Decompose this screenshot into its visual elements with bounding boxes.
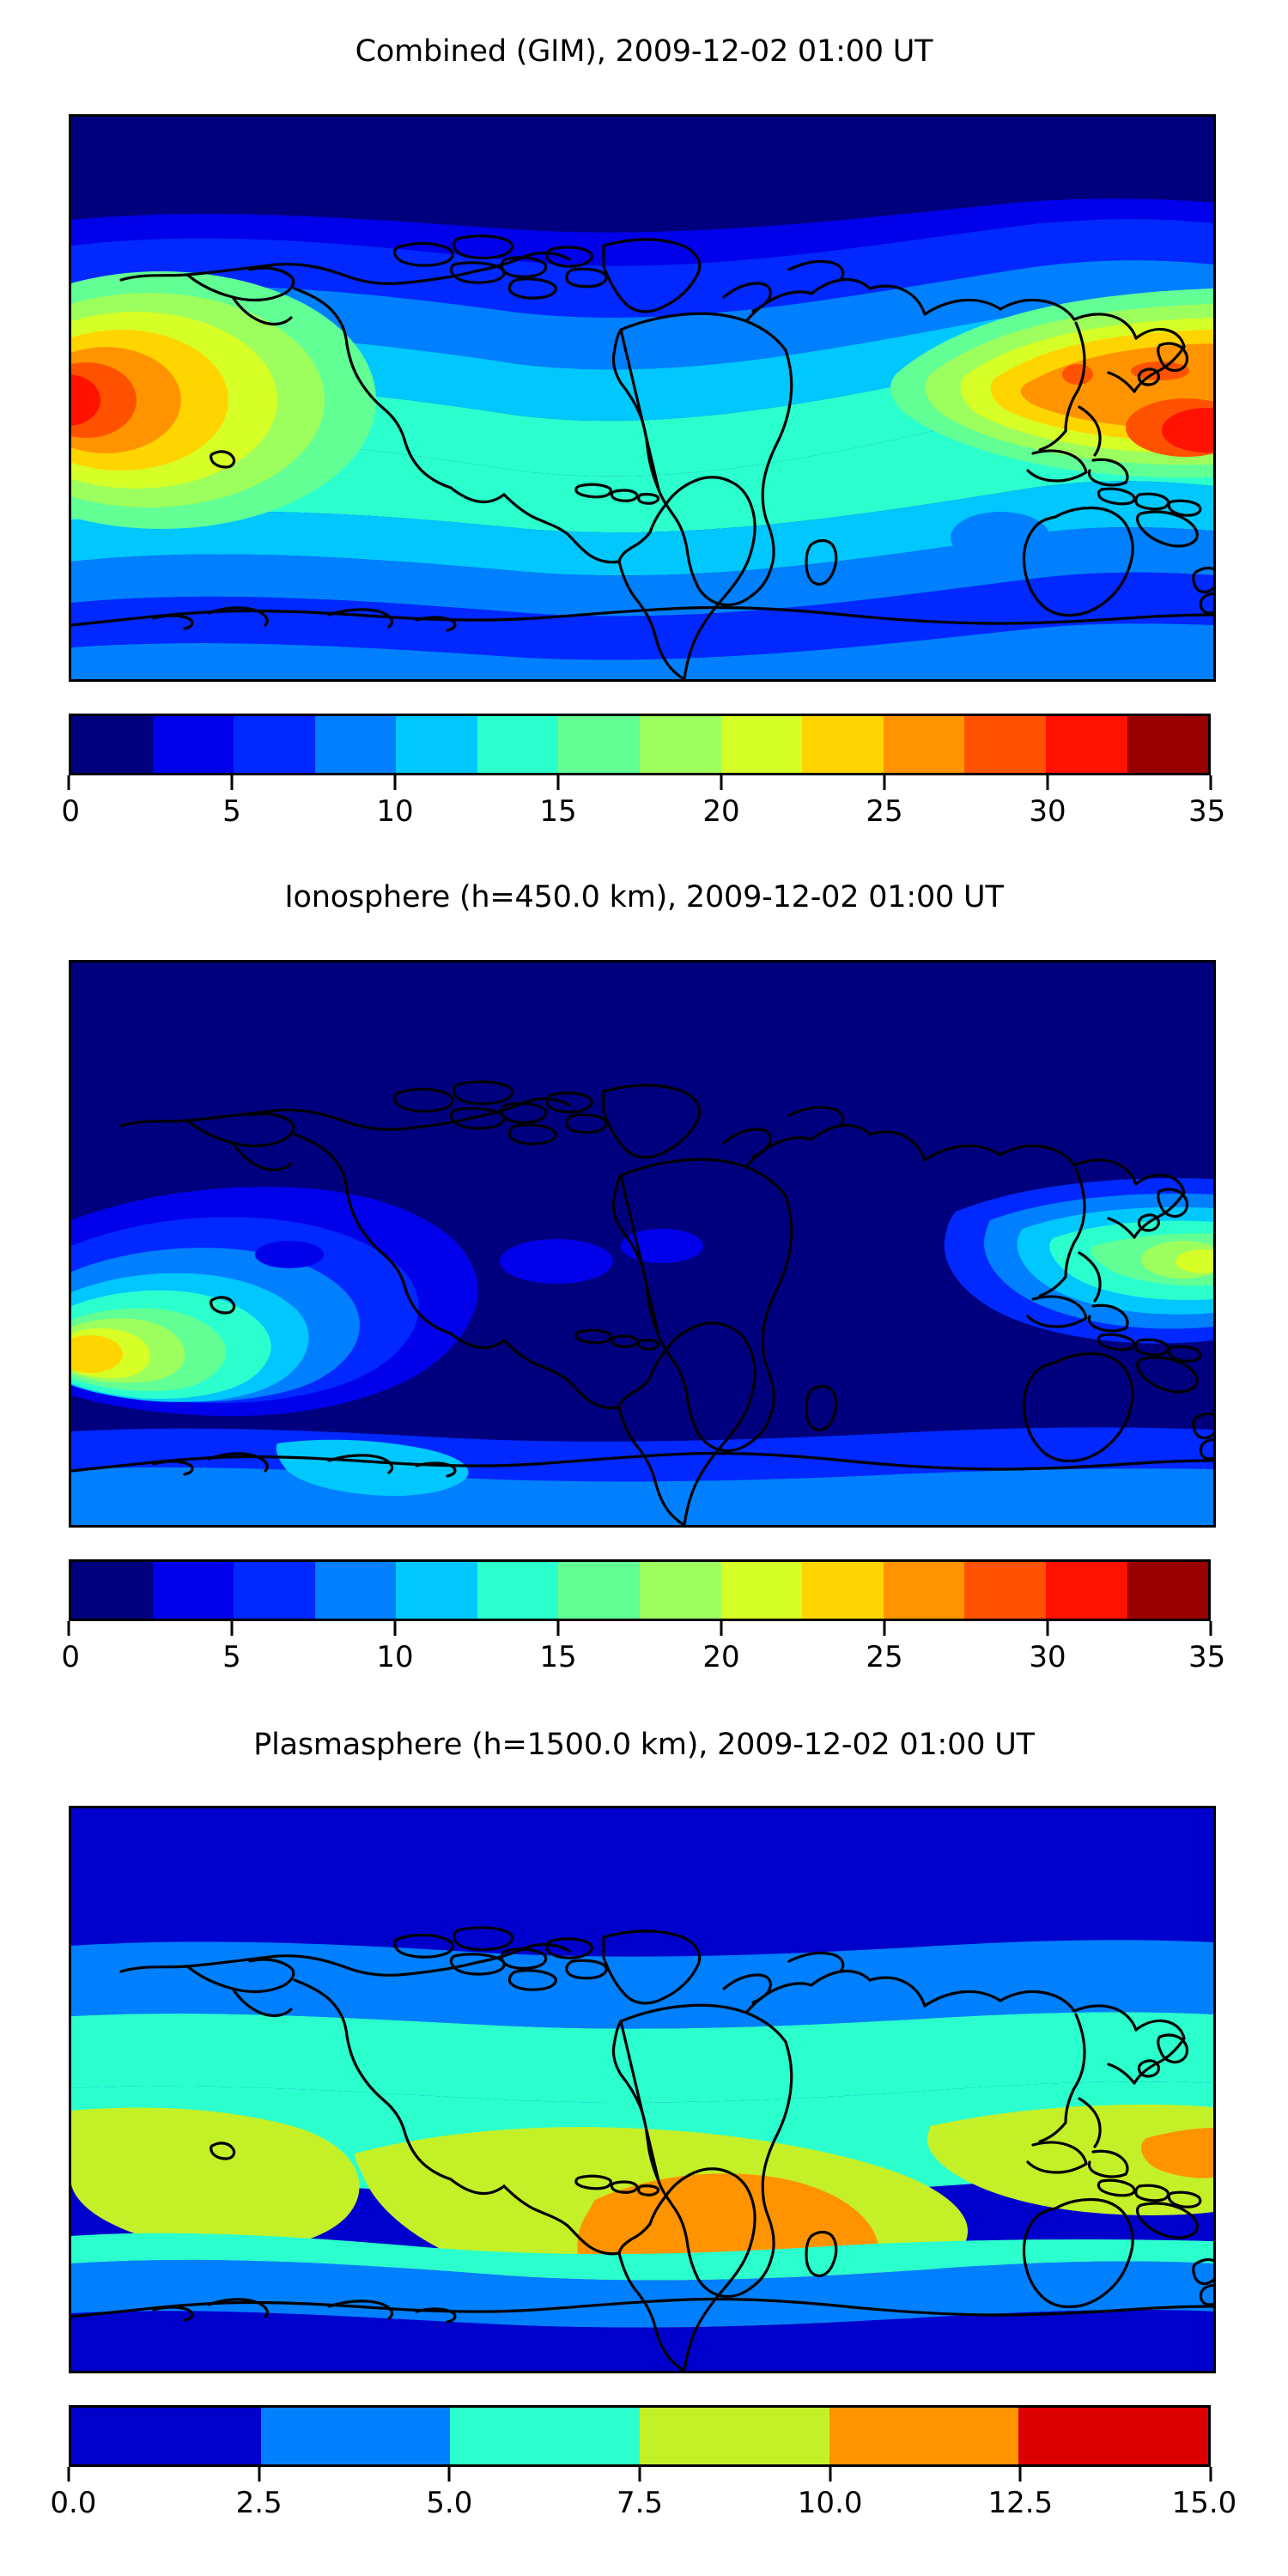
- colorbar-tick-label: 5: [222, 794, 241, 829]
- colorbar-labels-combined-gim: 05101520253035: [69, 794, 1211, 832]
- colorbar-tick: [68, 775, 70, 790]
- figure-canvas: Combined (GIM), 2009-12-02 01:00 UT: [0, 0, 1288, 2576]
- colorbar-tick-label: 7.5: [617, 2486, 663, 2520]
- colorbar-tick-label: 0: [61, 794, 80, 829]
- colorbar-gradient-ionosphere: [69, 1559, 1211, 1621]
- colorbar-band: [315, 1562, 397, 1619]
- colorbar-combined-gim: 05101520253035: [69, 714, 1211, 832]
- colorbar-band: [1127, 1562, 1209, 1619]
- colorbar-band: [1046, 716, 1127, 773]
- contour-plot-ionosphere: [71, 963, 1213, 1525]
- colorbar-tick-label: 0.0: [50, 2486, 96, 2520]
- colorbar-tick-label: 15: [539, 794, 576, 829]
- panel-title-plasmasphere: Plasmasphere (h=1500.0 km), 2009-12-02 0…: [0, 1728, 1288, 1762]
- colorbar-tick: [1210, 2467, 1212, 2482]
- colorbar-tick: [1210, 1621, 1212, 1636]
- colorbar-tick: [1210, 775, 1212, 790]
- colorbar-tick-label: 10.0: [798, 2486, 863, 2520]
- colorbar-tick-label: 15.0: [1172, 2486, 1237, 2520]
- colorbar-band: [71, 2408, 261, 2464]
- colorbar-band: [396, 716, 477, 773]
- map-canvas-combined-gim: [71, 117, 1213, 679]
- panel-title-combined-gim: Combined (GIM), 2009-12-02 01:00 UT: [0, 34, 1288, 69]
- colorbar-band: [234, 716, 315, 773]
- colorbar-tick-label: 30: [1029, 794, 1066, 829]
- colorbar-tick-label: 35: [1188, 794, 1225, 829]
- colorbar-tick: [231, 1621, 234, 1636]
- colorbar-band: [964, 716, 1046, 773]
- colorbar-tick: [884, 1621, 886, 1636]
- colorbar-tick-label: 20: [702, 794, 739, 829]
- colorbar-gradient-combined-gim: [69, 714, 1211, 775]
- colorbar-tick-label: 30: [1029, 1640, 1066, 1674]
- colorbar-band: [1127, 716, 1209, 773]
- colorbar-band: [640, 716, 721, 773]
- colorbar-band: [477, 1562, 559, 1619]
- map-combined-gim: [69, 114, 1216, 682]
- colorbar-tick-label: 20: [702, 1640, 739, 1674]
- colorbar-tick: [394, 1621, 397, 1636]
- colorbar-band: [71, 1562, 153, 1619]
- colorbar-band: [721, 716, 803, 773]
- colorbar-band: [721, 1562, 803, 1619]
- colorbar-tick: [448, 2467, 451, 2482]
- panel-ionosphere: Ionosphere (h=450.0 km), 2009-12-02 01:0…: [0, 846, 1288, 1679]
- colorbar-ticks-plasmasphere: [69, 2467, 1211, 2486]
- colorbar-tick: [639, 2467, 641, 2482]
- colorbar-ticks-ionosphere: [69, 1621, 1211, 1640]
- map-canvas-ionosphere: [71, 963, 1213, 1525]
- colorbar-tick: [557, 1621, 560, 1636]
- colorbar-tick-label: 25: [866, 794, 902, 829]
- colorbar-tick: [720, 775, 723, 790]
- colorbar-band: [884, 1562, 965, 1619]
- colorbar-band: [640, 1562, 721, 1619]
- colorbar-band: [396, 1562, 477, 1619]
- colorbar-tick: [394, 775, 397, 790]
- colorbar-tick: [884, 775, 886, 790]
- colorbar-tick: [1047, 1621, 1049, 1636]
- colorbar-tick: [231, 775, 234, 790]
- colorbar-band: [450, 2408, 640, 2464]
- colorbar-tick: [258, 2467, 260, 2482]
- colorbar-band: [640, 2408, 829, 2464]
- colorbar-tick: [1047, 775, 1049, 790]
- map-ionosphere: [69, 960, 1216, 1528]
- colorbar-band: [234, 1562, 315, 1619]
- colorbar-tick-label: 0: [61, 1640, 80, 1674]
- colorbar-tick: [68, 2467, 70, 2482]
- colorbar-tick: [829, 2467, 831, 2482]
- colorbar-tick: [720, 1621, 723, 1636]
- colorbar-band: [802, 716, 884, 773]
- panel-plasmasphere: Plasmasphere (h=1500.0 km), 2009-12-02 0…: [0, 1692, 1288, 2576]
- colorbar-band: [558, 1562, 640, 1619]
- colorbar-band: [1046, 1562, 1127, 1619]
- colorbar-plasmasphere: 0.02.55.07.510.012.515.0: [69, 2405, 1211, 2524]
- colorbar-band: [964, 1562, 1046, 1619]
- colorbar-tick-label: 2.5: [236, 2486, 283, 2520]
- colorbar-tick: [557, 775, 560, 790]
- colorbar-tick-label: 25: [866, 1640, 902, 1674]
- colorbar-band: [884, 716, 965, 773]
- colorbar-band: [829, 2408, 1019, 2464]
- colorbar-tick-label: 5: [222, 1640, 241, 1674]
- contour-plot-plasmasphere: [71, 1808, 1213, 2371]
- colorbar-labels-plasmasphere: 0.02.55.07.510.012.515.0: [69, 2486, 1211, 2524]
- colorbar-tick: [1019, 2467, 1022, 2482]
- contour-plot-combined-gim: [71, 117, 1213, 679]
- colorbar-band: [477, 716, 559, 773]
- colorbar-band: [261, 2408, 451, 2464]
- colorbar-tick-label: 35: [1188, 1640, 1225, 1674]
- colorbar-ticks-combined-gim: [69, 775, 1211, 794]
- colorbar-tick-label: 10: [376, 1640, 413, 1674]
- colorbar-band: [153, 1562, 234, 1619]
- colorbar-band: [153, 716, 234, 773]
- map-canvas-plasmasphere: [71, 1808, 1213, 2371]
- colorbar-tick-label: 15: [539, 1640, 576, 1674]
- colorbar-ionosphere: 05101520253035: [69, 1559, 1211, 1678]
- colorbar-gradient-plasmasphere: [69, 2405, 1211, 2467]
- colorbar-band: [71, 716, 153, 773]
- colorbar-tick: [68, 1621, 70, 1636]
- map-plasmasphere: [69, 1806, 1216, 2373]
- colorbar-labels-ionosphere: 05101520253035: [69, 1640, 1211, 1678]
- colorbar-tick-label: 10: [376, 794, 413, 829]
- panel-combined-gim: Combined (GIM), 2009-12-02 01:00 UT: [0, 0, 1288, 833]
- colorbar-band: [802, 1562, 884, 1619]
- panel-title-ionosphere: Ionosphere (h=450.0 km), 2009-12-02 01:0…: [0, 880, 1288, 914]
- colorbar-band: [558, 716, 640, 773]
- colorbar-tick-label: 12.5: [987, 2486, 1053, 2520]
- colorbar-band: [1018, 2408, 1208, 2464]
- colorbar-tick-label: 5.0: [426, 2486, 472, 2520]
- colorbar-band: [315, 716, 397, 773]
